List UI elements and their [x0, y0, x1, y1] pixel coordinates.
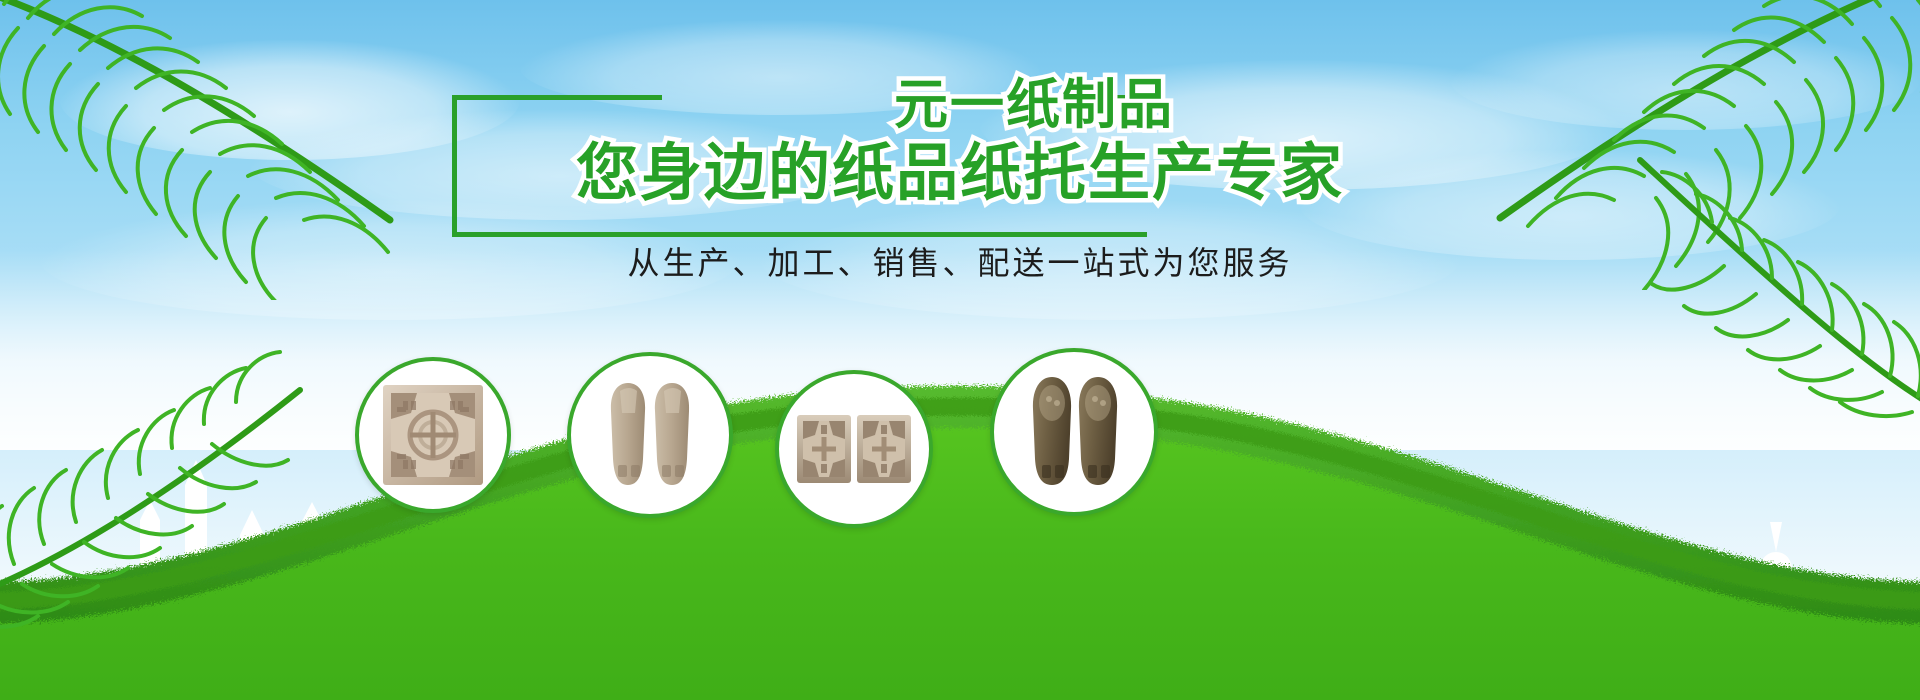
- palm-frond-icon: [0, 330, 360, 630]
- headline-block: 元一纸制品 您身边的纸品纸托生产专家: [0, 78, 1920, 204]
- dark-shoe-tree-pair: [994, 352, 1154, 512]
- headline-line-1: 元一纸制品: [148, 78, 1920, 132]
- headline-line-2: 您身边的纸品纸托生产专家: [0, 142, 1920, 204]
- subtitle-text: 从生产、加工、销售、配送一站式为您服务: [0, 238, 1920, 284]
- product-circle-3[interactable]: [775, 370, 933, 528]
- light-shoe-tree-pair: [571, 356, 729, 514]
- product-circle-2[interactable]: [567, 352, 733, 518]
- product-circle-4[interactable]: [990, 348, 1158, 516]
- square-pulp-tray: [359, 361, 507, 509]
- paired-pulp-corner-trays: [779, 374, 929, 524]
- promo-banner: 元一纸制品 您身边的纸品纸托生产专家 从生产、加工、销售、配送一站式为您服务: [0, 0, 1920, 700]
- product-circle-1[interactable]: [355, 357, 511, 513]
